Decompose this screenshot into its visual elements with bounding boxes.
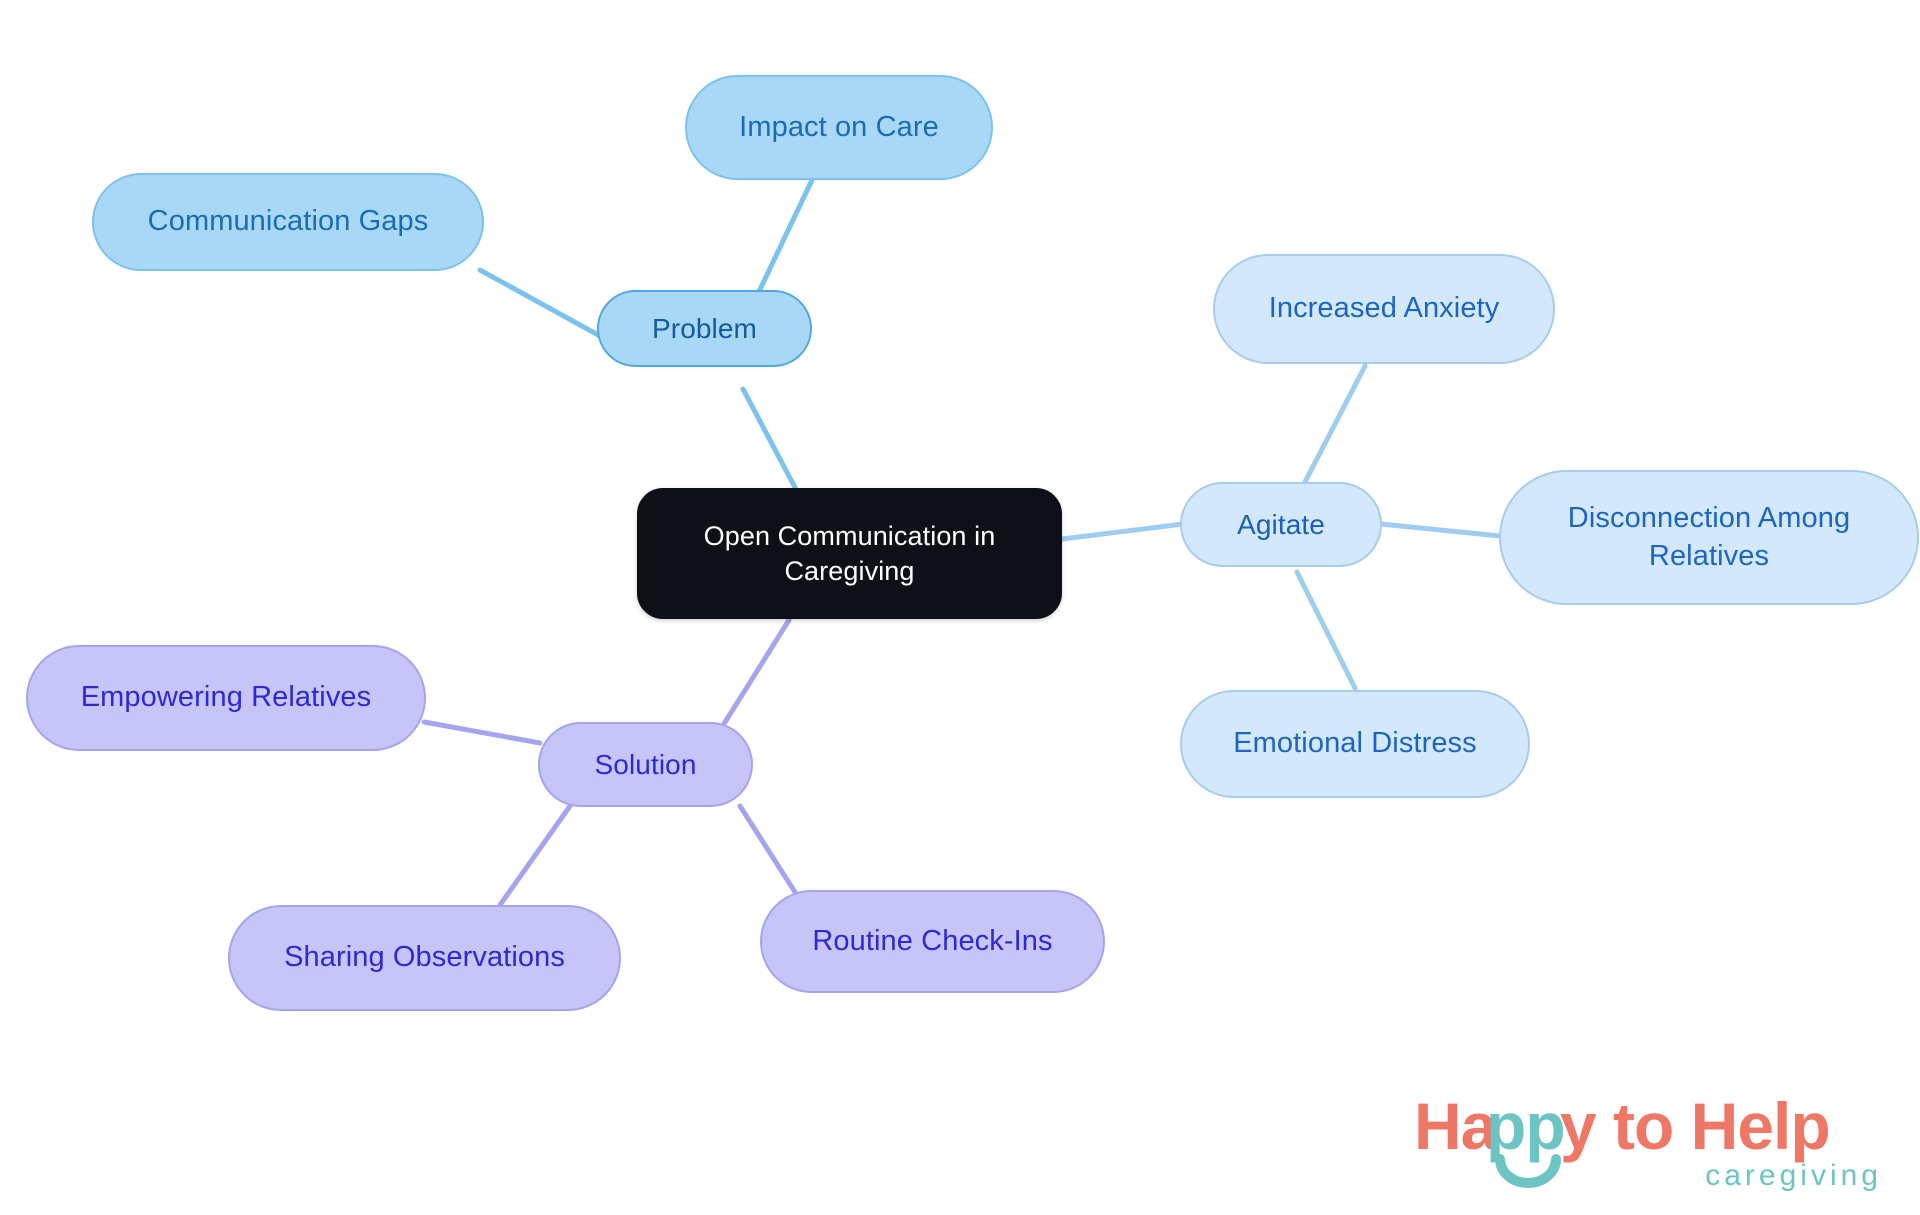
logo-text-y-to-help: y to Help <box>1560 1089 1830 1163</box>
leaf-node-emotional-distress[interactable]: Emotional Distress <box>1180 690 1530 798</box>
edge-root-agitate <box>1062 524 1183 539</box>
root-node[interactable]: Open Communication in Caregiving <box>637 488 1062 619</box>
edge-problem-impact-on-care <box>755 180 812 300</box>
mindmap-canvas: Open Communication in Caregiving Problem… <box>0 0 1920 1215</box>
logo-tagline: caregiving <box>1705 1159 1882 1192</box>
leaf-node-disconnection-among-relatives[interactable]: Disconnection Among Relatives <box>1499 470 1919 605</box>
leaf-node-empowering-relatives[interactable]: Empowering Relatives <box>26 645 426 751</box>
edge-agitate-increased-anxiety <box>1305 366 1365 482</box>
leaf-node-impact-on-care[interactable]: Impact on Care <box>685 75 993 180</box>
edge-root-solution <box>717 620 789 735</box>
leaf-node-routine-check-ins[interactable]: Routine Check-Ins <box>760 890 1105 993</box>
branch-node-problem[interactable]: Problem <box>597 290 812 367</box>
edge-root-problem <box>743 389 800 497</box>
leaf-node-increased-anxiety[interactable]: Increased Anxiety <box>1213 254 1555 364</box>
edge-problem-communication-gaps <box>480 270 600 336</box>
edge-agitate-disconnection <box>1381 524 1500 536</box>
leaf-node-sharing-observations[interactable]: Sharing Observations <box>228 905 621 1011</box>
edge-solution-empowering-relatives <box>424 722 540 743</box>
logo-text-pp: pp <box>1486 1089 1565 1163</box>
happy-to-help-logo-icon: Ha pp y to Help caregiving <box>1414 1081 1884 1193</box>
branch-node-solution[interactable]: Solution <box>538 722 753 807</box>
edge-solution-sharing-observations <box>500 806 570 905</box>
edge-agitate-emotional-distress <box>1297 572 1355 688</box>
leaf-node-communication-gaps[interactable]: Communication Gaps <box>92 173 484 271</box>
branch-node-agitate[interactable]: Agitate <box>1180 482 1382 567</box>
edge-solution-routine-check-ins <box>740 806 800 900</box>
brand-logo: Ha pp y to Help caregiving <box>1414 1081 1884 1193</box>
